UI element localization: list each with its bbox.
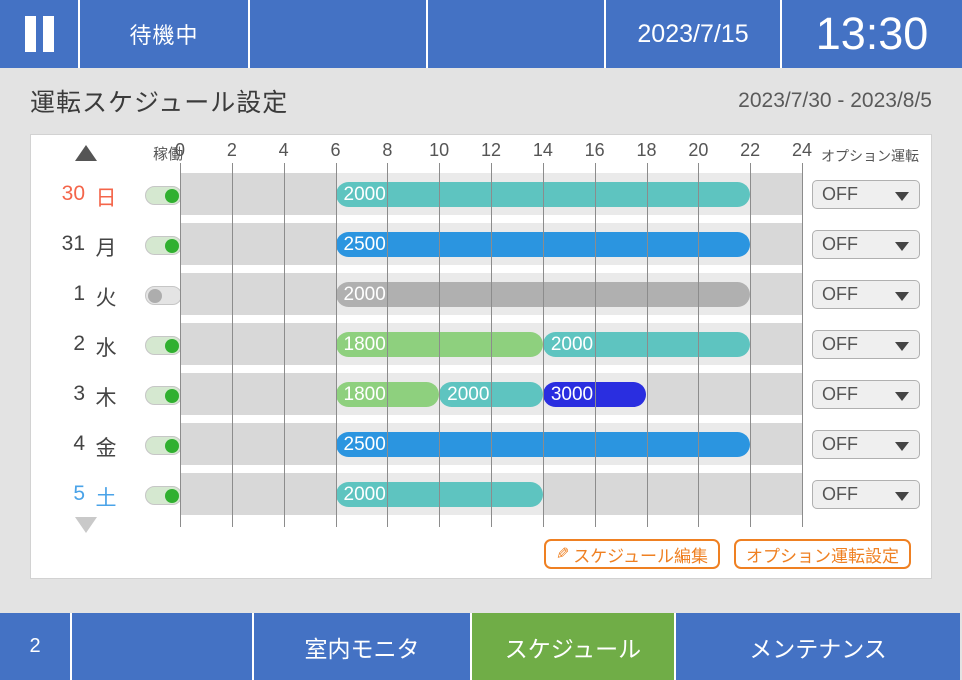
schedule-bar-label: 2000: [344, 484, 386, 506]
row-date: 2: [45, 332, 85, 356]
row-weekday: 木: [93, 382, 119, 412]
operation-toggle[interactable]: [145, 186, 182, 205]
schedule-row: 3木180020003000OFF: [31, 369, 933, 419]
option-operation-dropdown[interactable]: OFF: [812, 280, 920, 309]
option-operation-dropdown[interactable]: OFF: [812, 180, 920, 209]
chevron-down-icon: [895, 492, 909, 501]
row-timeline[interactable]: 2000: [180, 473, 802, 515]
chevron-down-icon: [895, 392, 909, 401]
row-timeline[interactable]: 18002000: [180, 323, 802, 365]
schedule-bar[interactable]: 3000: [543, 382, 647, 407]
operation-toggle[interactable]: [145, 386, 182, 405]
schedule-row: 2水18002000OFF: [31, 319, 933, 369]
pencil-icon: ✎: [556, 544, 569, 564]
edit-schedule-label: スケジュール編集: [573, 542, 708, 567]
page-title: 運転スケジュール設定: [30, 83, 288, 119]
row-timeline[interactable]: 180020003000: [180, 373, 802, 415]
schedule-bar-label: 2000: [344, 184, 386, 206]
schedule-row: 4金2500OFF: [31, 419, 933, 469]
option-operation-settings-button[interactable]: オプション運転設定: [734, 539, 911, 569]
bottom-navigation: 2 室内モニタ スケジュール メンテナンス: [0, 613, 962, 680]
schedule-row: 5土2000OFF: [31, 469, 933, 519]
panel-action-buttons: ✎ スケジュール編集 オプション運転設定: [544, 539, 911, 569]
schedule-bar-label: 2000: [344, 284, 386, 306]
chevron-down-icon: [895, 342, 909, 351]
operation-toggle[interactable]: [145, 336, 182, 355]
pause-status-cell: [0, 0, 80, 68]
hour-tick-8: 8: [382, 140, 392, 161]
row-timeline[interactable]: 2000: [180, 273, 802, 315]
chart-header: 稼働 オプション運転 024681012141618202224: [31, 135, 933, 167]
option-operation-dropdown[interactable]: OFF: [812, 230, 920, 259]
schedule-bar-label: 3000: [551, 384, 593, 406]
option-operation-value: OFF: [813, 484, 858, 505]
schedule-row: 31月2500OFF: [31, 219, 933, 269]
operation-state-cell: 待機中: [80, 0, 250, 68]
operation-toggle[interactable]: [145, 486, 182, 505]
hour-tick-6: 6: [330, 140, 340, 161]
hour-tick-12: 12: [481, 140, 501, 161]
schedule-bar-label: 1800: [344, 334, 386, 356]
row-date: 3: [45, 382, 85, 406]
hour-tick-22: 22: [740, 140, 760, 161]
schedule-bar-label: 2000: [551, 334, 593, 356]
page-number-cell: 2: [0, 613, 72, 680]
operation-toggle[interactable]: [145, 436, 182, 455]
current-date: 2023/7/15: [606, 0, 782, 68]
status-blank-cell-2: [428, 0, 606, 68]
row-weekday: 水: [93, 332, 119, 362]
schedule-row: 1火2000OFF: [31, 269, 933, 319]
page-header: 運転スケジュール設定 2023/7/30 - 2023/8/5: [0, 68, 962, 134]
hour-tick-10: 10: [429, 140, 449, 161]
schedule-panel: 稼働 オプション運転 024681012141618202224 30日2000…: [30, 134, 932, 579]
row-timeline[interactable]: 2500: [180, 423, 802, 465]
schedule-bar-label: 2500: [344, 234, 386, 256]
option-operation-value: OFF: [813, 234, 858, 255]
hour-tick-24: 24: [792, 140, 812, 161]
hour-tick-14: 14: [533, 140, 553, 161]
option-operation-dropdown[interactable]: OFF: [812, 380, 920, 409]
schedule-bar[interactable]: 1800: [336, 382, 440, 407]
option-operation-value: OFF: [813, 334, 858, 355]
chevron-down-icon: [895, 242, 909, 251]
row-date: 30: [45, 182, 85, 206]
schedule-bar[interactable]: 2500: [336, 232, 751, 257]
hour-tick-0: 0: [175, 140, 185, 161]
date-range-label: 2023/7/30 - 2023/8/5: [738, 89, 932, 113]
option-operation-value: OFF: [813, 384, 858, 405]
option-operation-dropdown[interactable]: OFF: [812, 430, 920, 459]
triangle-down-icon[interactable]: [75, 517, 97, 533]
schedule-bar[interactable]: 2000: [543, 332, 750, 357]
option-column-label: オプション運転: [821, 146, 919, 166]
operation-toggle[interactable]: [145, 236, 182, 255]
hour-tick-18: 18: [636, 140, 656, 161]
schedule-bar-label: 1800: [344, 384, 386, 406]
chevron-down-icon: [895, 442, 909, 451]
row-weekday: 土: [93, 482, 119, 512]
schedule-bar[interactable]: 2000: [439, 382, 543, 407]
hour-tick-20: 20: [688, 140, 708, 161]
row-timeline[interactable]: 2000: [180, 173, 802, 215]
current-time: 13:30: [782, 0, 962, 68]
nav-blank-cell: [72, 613, 254, 680]
triangle-up-icon[interactable]: [75, 145, 97, 161]
row-weekday: 月: [93, 232, 119, 262]
option-operation-value: OFF: [813, 184, 858, 205]
hour-tick-2: 2: [227, 140, 237, 161]
schedule-row: 30日2000OFF: [31, 169, 933, 219]
option-operation-dropdown[interactable]: OFF: [812, 330, 920, 359]
row-timeline[interactable]: 2500: [180, 223, 802, 265]
row-date: 5: [45, 482, 85, 506]
option-operation-value: OFF: [813, 434, 858, 455]
operation-toggle[interactable]: [145, 286, 182, 305]
schedule-bar[interactable]: 2500: [336, 432, 751, 457]
row-weekday: 金: [93, 432, 119, 462]
chevron-down-icon: [895, 192, 909, 201]
edit-schedule-button[interactable]: ✎ スケジュール編集: [544, 539, 720, 569]
row-date: 31: [45, 232, 85, 256]
schedule-bar[interactable]: 1800: [336, 332, 543, 357]
option-operation-value: OFF: [813, 284, 858, 305]
pause-icon: [25, 16, 54, 52]
schedule-bar[interactable]: 2000: [336, 482, 543, 507]
row-weekday: 火: [93, 282, 119, 312]
row-date: 4: [45, 432, 85, 456]
chevron-down-icon: [895, 292, 909, 301]
nav-item-indoor-monitor[interactable]: 室内モニタ: [254, 613, 472, 680]
status-blank-cell-1: [250, 0, 428, 68]
row-date: 1: [45, 282, 85, 306]
option-operation-dropdown[interactable]: OFF: [812, 480, 920, 509]
schedule-bar-label: 2500: [344, 434, 386, 456]
schedule-rows: 30日2000OFF31月2500OFF1火2000OFF2水18002000O…: [31, 169, 933, 519]
hour-tick-16: 16: [585, 140, 605, 161]
status-bar: 待機中 2023/7/15 13:30: [0, 0, 962, 68]
schedule-bar[interactable]: 2000: [336, 182, 751, 207]
schedule-bar[interactable]: 2000: [336, 282, 751, 307]
option-operation-settings-label: オプション運転設定: [746, 542, 899, 567]
nav-item-schedule[interactable]: スケジュール: [472, 613, 676, 680]
row-weekday: 日: [93, 182, 119, 212]
nav-item-maintenance[interactable]: メンテナンス: [676, 613, 960, 680]
hour-tick-4: 4: [279, 140, 289, 161]
schedule-bar-label: 2000: [447, 384, 489, 406]
